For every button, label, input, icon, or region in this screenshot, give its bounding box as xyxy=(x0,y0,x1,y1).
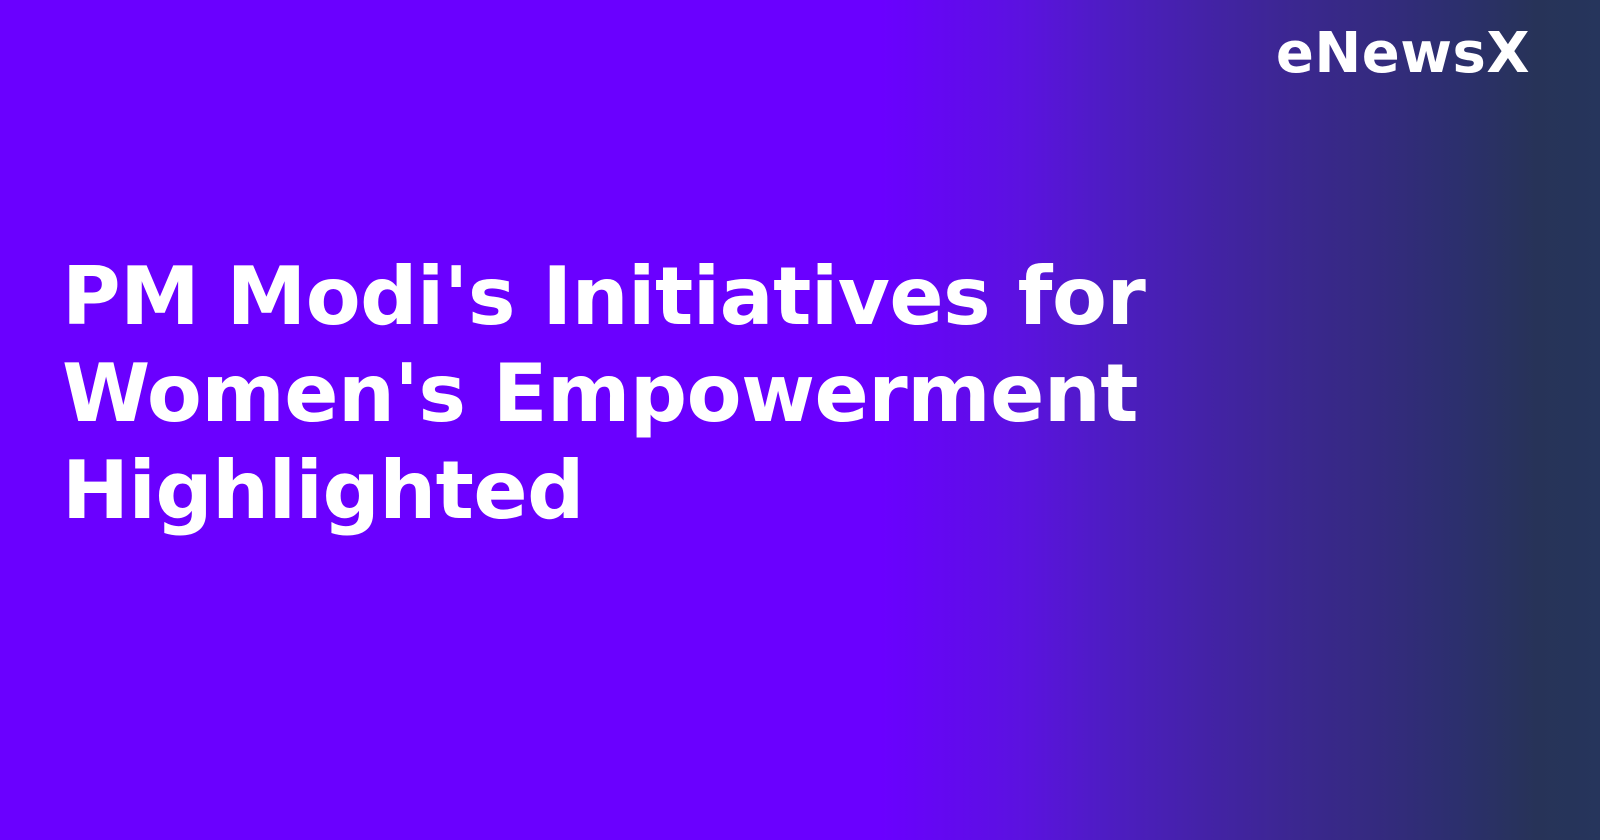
news-share-card: eNewsX PM Modi's Initiatives for Women's… xyxy=(0,0,1600,840)
headline-container: PM Modi's Initiatives for Women's Empowe… xyxy=(62,248,1252,539)
page-title: PM Modi's Initiatives for Women's Empowe… xyxy=(62,248,1252,539)
brand-header: eNewsX xyxy=(0,0,1600,120)
brand-logo: eNewsX xyxy=(1276,26,1530,82)
